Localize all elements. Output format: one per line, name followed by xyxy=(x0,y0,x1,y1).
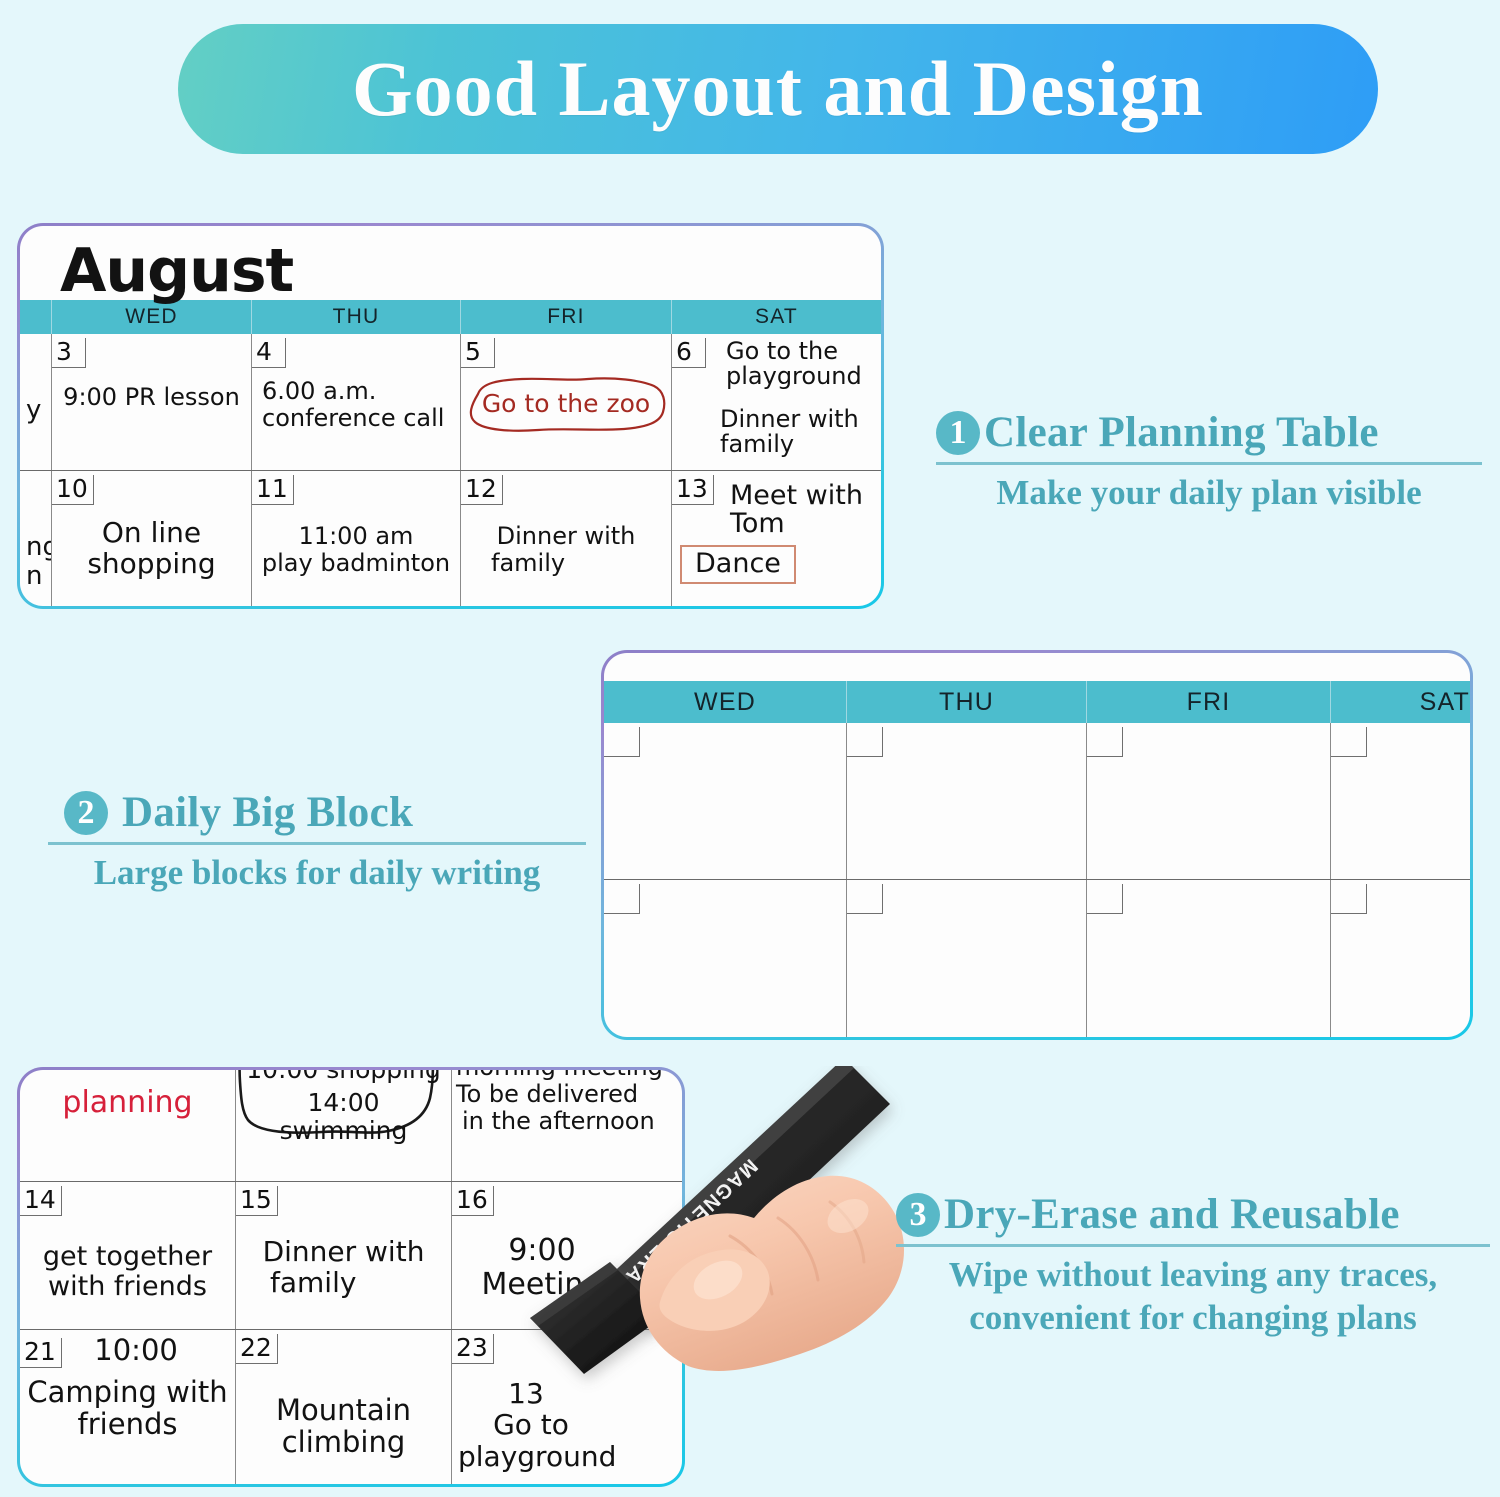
day-event: get together xyxy=(20,1242,235,1272)
day-number: 23 xyxy=(452,1334,494,1364)
weekday-cell-sat: SAT xyxy=(1331,681,1470,723)
hand-drawn-bubble: 10:00 shopping 14:00 swimming xyxy=(236,1070,451,1168)
day-cell-blank[interactable] xyxy=(1087,880,1331,1037)
day-number: 6 xyxy=(672,338,706,368)
day-event: Dinner with xyxy=(236,1236,451,1267)
feature-block-1: 1 Clear Planning Table Make your daily p… xyxy=(936,408,1482,515)
day-event: family xyxy=(461,550,671,577)
day-event: 9:00 PR lesson xyxy=(52,384,251,411)
day-event: shopping xyxy=(52,548,251,579)
day-event: 6.00 a.m. xyxy=(252,378,460,405)
bubble-line: 10:00 shopping xyxy=(236,1070,451,1084)
day-number xyxy=(604,727,640,757)
day-number: 16 xyxy=(452,1186,494,1216)
bubble-line: 14:00 swimming xyxy=(236,1089,451,1145)
day-cell-blank[interactable] xyxy=(847,880,1087,1037)
divider xyxy=(48,842,586,845)
day-cell-14[interactable]: 14 get together with friends xyxy=(20,1182,236,1329)
day-event: playground xyxy=(452,1441,682,1472)
day-cell-blank[interactable] xyxy=(1087,723,1331,879)
calendar-panel-august: August WED THU FRI SAT y 3 9:00 PR lesso… xyxy=(17,223,884,609)
calendar-week-row xyxy=(604,880,1470,1037)
day-event: Dinner with xyxy=(714,406,881,433)
feature-title: Dry-Erase and Reusable xyxy=(944,1190,1400,1239)
calendar-week-row: ng n 10 On line shopping 11 11:00 am pla… xyxy=(20,471,881,606)
clipped-text: y xyxy=(20,396,51,425)
day-event: playground xyxy=(720,363,881,390)
calendar-top-margin xyxy=(604,653,1470,681)
day-number: 4 xyxy=(252,338,286,368)
day-event: Dinner with xyxy=(461,523,671,550)
day-event: Meet with xyxy=(724,481,881,511)
feature-subtitle: Make your daily plan visible xyxy=(936,472,1482,515)
feature-title: Daily Big Block xyxy=(122,788,413,837)
day-cell-22[interactable]: 22 Mountain climbing xyxy=(236,1330,452,1484)
boxed-annotation: Dance xyxy=(680,545,796,584)
feature-number-badge: 2 xyxy=(64,791,108,835)
day-number: 15 xyxy=(236,1186,278,1216)
day-cell-13[interactable]: 13 Meet with Tom Dance xyxy=(672,471,881,606)
day-cell-3[interactable]: 3 9:00 PR lesson xyxy=(52,334,252,470)
calendar-surface: WED THU FRI SAT xyxy=(604,653,1470,1037)
day-number: 11 xyxy=(252,475,294,505)
day-number: 10 xyxy=(52,475,94,505)
calendar-week-row: y 3 9:00 PR lesson 4 6.00 a.m. conferenc… xyxy=(20,334,881,471)
weekday-cell-wed: WED xyxy=(604,681,847,723)
day-cell-blank[interactable] xyxy=(1331,723,1470,879)
bubble-text-group: 10:00 shopping 14:00 swimming xyxy=(236,1070,451,1145)
day-number xyxy=(1331,884,1367,914)
feature-subtitle-line-1: Wipe without leaving any traces, xyxy=(896,1254,1490,1297)
day-number: 21 xyxy=(20,1338,62,1368)
day-number xyxy=(1087,884,1123,914)
day-event: friends xyxy=(20,1408,235,1440)
day-event: Mountain xyxy=(236,1394,451,1426)
page-title-banner: Good Layout and Design xyxy=(178,24,1378,154)
day-cell-blank[interactable] xyxy=(1331,880,1470,1037)
day-cell-10[interactable]: 10 On line shopping xyxy=(52,471,252,606)
day-cell-6[interactable]: 6 Go to the playground Dinner with famil… xyxy=(672,334,881,470)
calendar-week-row xyxy=(604,723,1470,880)
feature-subtitle-line-2: convenient for changing plans xyxy=(896,1297,1490,1340)
day-cell-4[interactable]: 4 6.00 a.m. conference call xyxy=(252,334,461,470)
feature-block-2: 2 Daily Big Block Large blocks for daily… xyxy=(48,788,586,895)
day-number xyxy=(847,884,883,914)
day-event: Tom xyxy=(724,509,881,539)
day-number: 14 xyxy=(20,1186,62,1216)
calendar-panel-blank: WED THU FRI SAT xyxy=(601,650,1473,1040)
divider xyxy=(896,1244,1490,1247)
day-number xyxy=(1331,727,1367,757)
hand xyxy=(640,1176,904,1371)
day-cell-clipped: ng n xyxy=(20,471,52,606)
clipped-text: ng xyxy=(20,533,51,562)
day-cell-blank[interactable] xyxy=(604,880,847,1037)
clipped-text: n xyxy=(20,562,51,591)
feature-title: Clear Planning Table xyxy=(984,408,1379,457)
weekday-cell-fri: FRI xyxy=(461,300,672,334)
calendar-surface: August WED THU FRI SAT y 3 9:00 PR lesso… xyxy=(20,226,881,606)
weekday-header-row: WED THU FRI SAT xyxy=(604,681,1470,723)
infographic-page: Good Layout and Design August WED THU FR… xyxy=(0,0,1500,1497)
day-event: On line xyxy=(52,517,251,548)
day-event: conference call xyxy=(252,405,460,432)
day-cell-blank[interactable] xyxy=(847,723,1087,879)
red-annotation-text: Go to the zoo xyxy=(468,382,664,426)
weekday-cell-clipped xyxy=(20,300,52,334)
red-annotation-bubble: Go to the zoo xyxy=(468,382,664,426)
weekday-cell-sat: SAT xyxy=(672,300,881,334)
page-title: Good Layout and Design xyxy=(352,50,1204,128)
day-number xyxy=(1087,727,1123,757)
day-event: Go to xyxy=(452,1409,682,1440)
day-number: 3 xyxy=(52,338,86,368)
day-event: Go to the xyxy=(720,338,880,365)
weekday-cell-fri: FRI xyxy=(1087,681,1331,723)
feature-number-badge: 3 xyxy=(896,1193,940,1237)
day-cell-clipped: y xyxy=(20,334,52,470)
day-event: family xyxy=(236,1267,451,1298)
day-number: 5 xyxy=(461,338,495,368)
day-number: 12 xyxy=(461,475,503,505)
day-event: with friends xyxy=(20,1272,235,1302)
red-event-text: planning xyxy=(20,1086,235,1120)
weekday-cell-thu: THU xyxy=(252,300,461,334)
feature-subtitle: Large blocks for daily writing xyxy=(48,852,586,895)
day-cell-21[interactable]: 21 10:00 Camping with friends xyxy=(20,1330,236,1484)
day-event: 11:00 am xyxy=(252,523,460,550)
hand-holding-pen: MAGNETIC ERASABLE xyxy=(492,1066,912,1396)
feature-heading: 1 Clear Planning Table xyxy=(936,408,1482,457)
day-cell-blank[interactable] xyxy=(604,723,847,879)
feature-number-badge: 1 xyxy=(936,411,980,455)
day-cell-5[interactable]: 5 Go to the zoo xyxy=(461,334,672,470)
calendar-month-row: August xyxy=(20,226,881,300)
divider xyxy=(936,462,1482,465)
day-event: play badminton xyxy=(252,550,460,577)
day-cell-11[interactable]: 11 11:00 am play badminton xyxy=(252,471,461,606)
day-number: 13 xyxy=(672,475,714,505)
feature-block-3: 3 Dry-Erase and Reusable Wipe without le… xyxy=(896,1190,1490,1339)
day-cell-clipped-bubble[interactable]: 10:00 shopping 14:00 swimming xyxy=(236,1070,452,1181)
day-event: 10:00 xyxy=(88,1333,184,1367)
feature-heading: 2 Daily Big Block xyxy=(48,788,586,837)
feature-heading: 3 Dry-Erase and Reusable xyxy=(896,1190,1490,1239)
day-number: 22 xyxy=(236,1334,278,1364)
weekday-cell-thu: THU xyxy=(847,681,1087,723)
weekday-cell-wed: WED xyxy=(52,300,252,334)
day-number xyxy=(847,727,883,757)
annotation-box-wrapper: Dance xyxy=(672,539,796,584)
day-cell-clipped-planning[interactable]: business planning xyxy=(20,1070,236,1181)
day-event: Camping with xyxy=(20,1376,235,1408)
day-event: family xyxy=(714,431,881,458)
day-cell-15[interactable]: 15 Dinner with family xyxy=(236,1182,452,1329)
day-number xyxy=(604,884,640,914)
day-event: climbing xyxy=(236,1426,451,1458)
day-cell-12[interactable]: 12 Dinner with family xyxy=(461,471,672,606)
weekday-header-row: WED THU FRI SAT xyxy=(20,300,881,334)
month-label: August xyxy=(60,243,293,300)
